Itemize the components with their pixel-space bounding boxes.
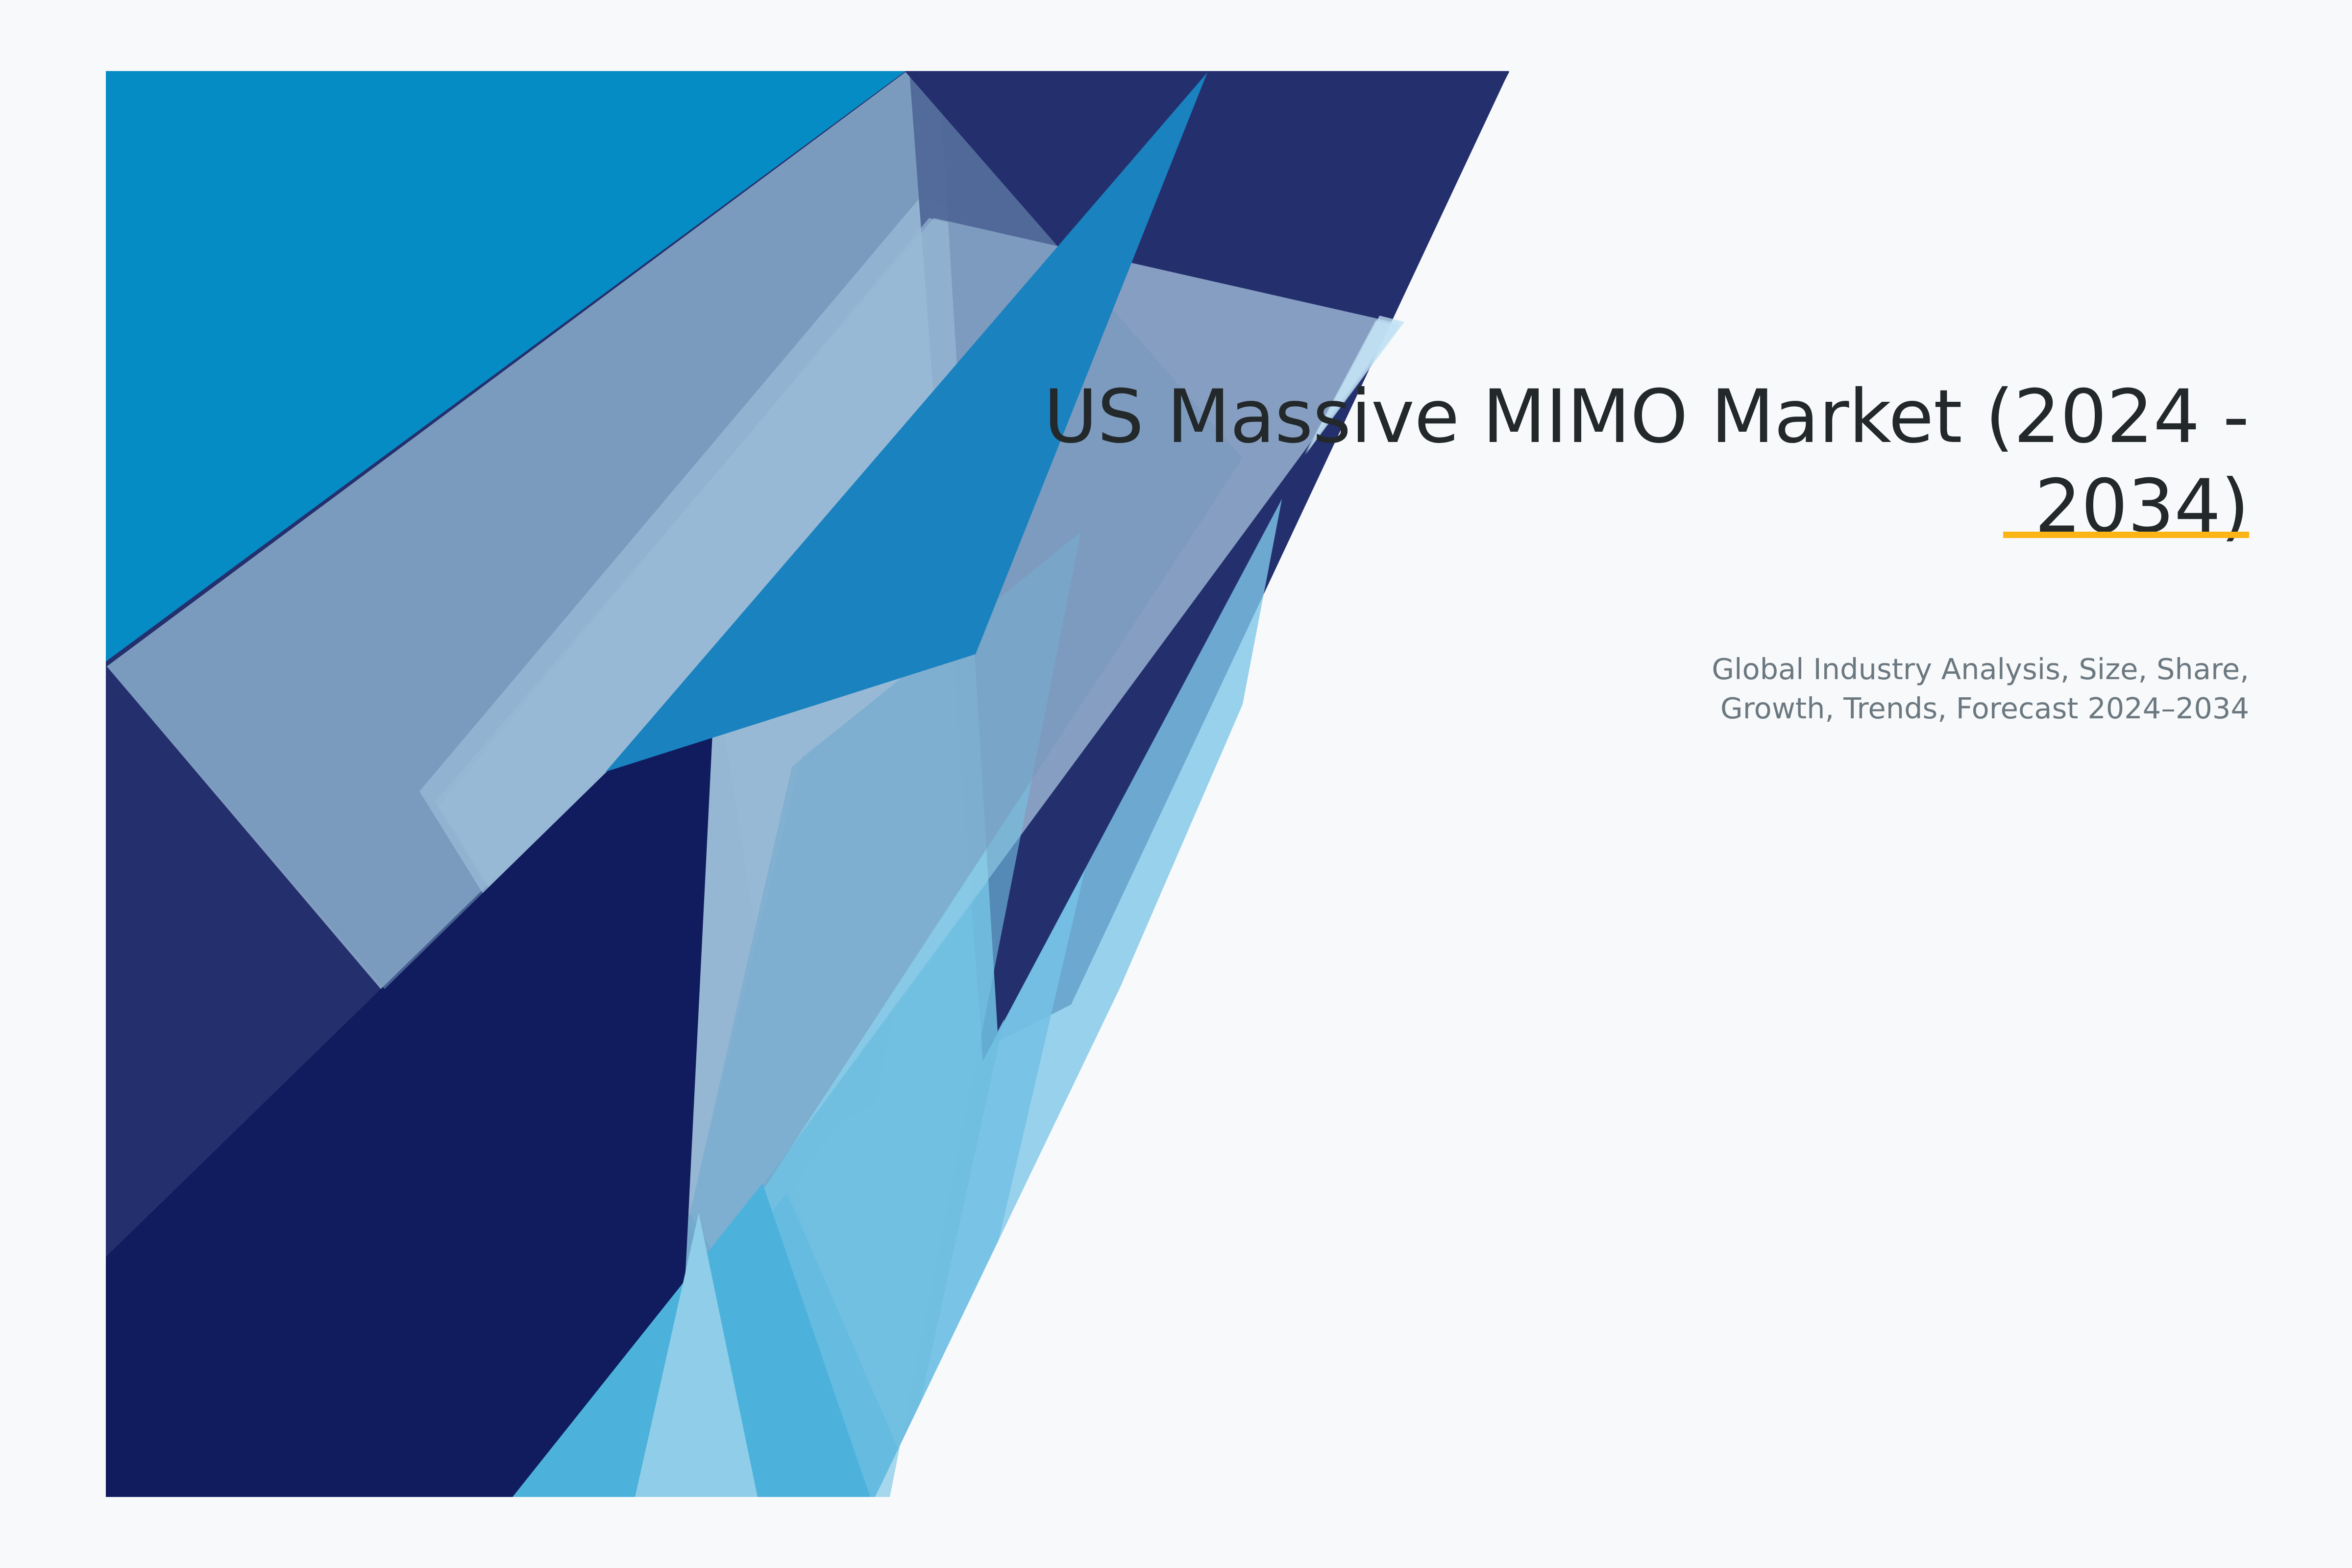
page-title: US Massive MIMO Market (2024 -2034) [931, 372, 2249, 552]
title-accent-underline [2003, 532, 2249, 538]
cover-title-wrap: US Massive MIMO Market (2024 -2034) [931, 372, 2249, 552]
cover-artwork [106, 71, 1512, 1497]
page-title-line-1: US Massive MIMO Market (2024 - [1044, 374, 2249, 460]
page-subtitle-line-2: Growth, Trends, Forecast 2024–2034 [1720, 691, 2249, 725]
abstract-geometric-polygons-svg [106, 71, 1512, 1497]
page-subtitle-line-1: Global Industry Analysis, Size, Share, [1712, 652, 2249, 686]
cover-slide: US Massive MIMO Market (2024 -2034) Glob… [0, 0, 2352, 1568]
page-subtitle: Global Industry Analysis, Size, Share,Gr… [931, 552, 2249, 728]
cover-text-block: US Massive MIMO Market (2024 -2034) Glob… [931, 372, 2249, 728]
